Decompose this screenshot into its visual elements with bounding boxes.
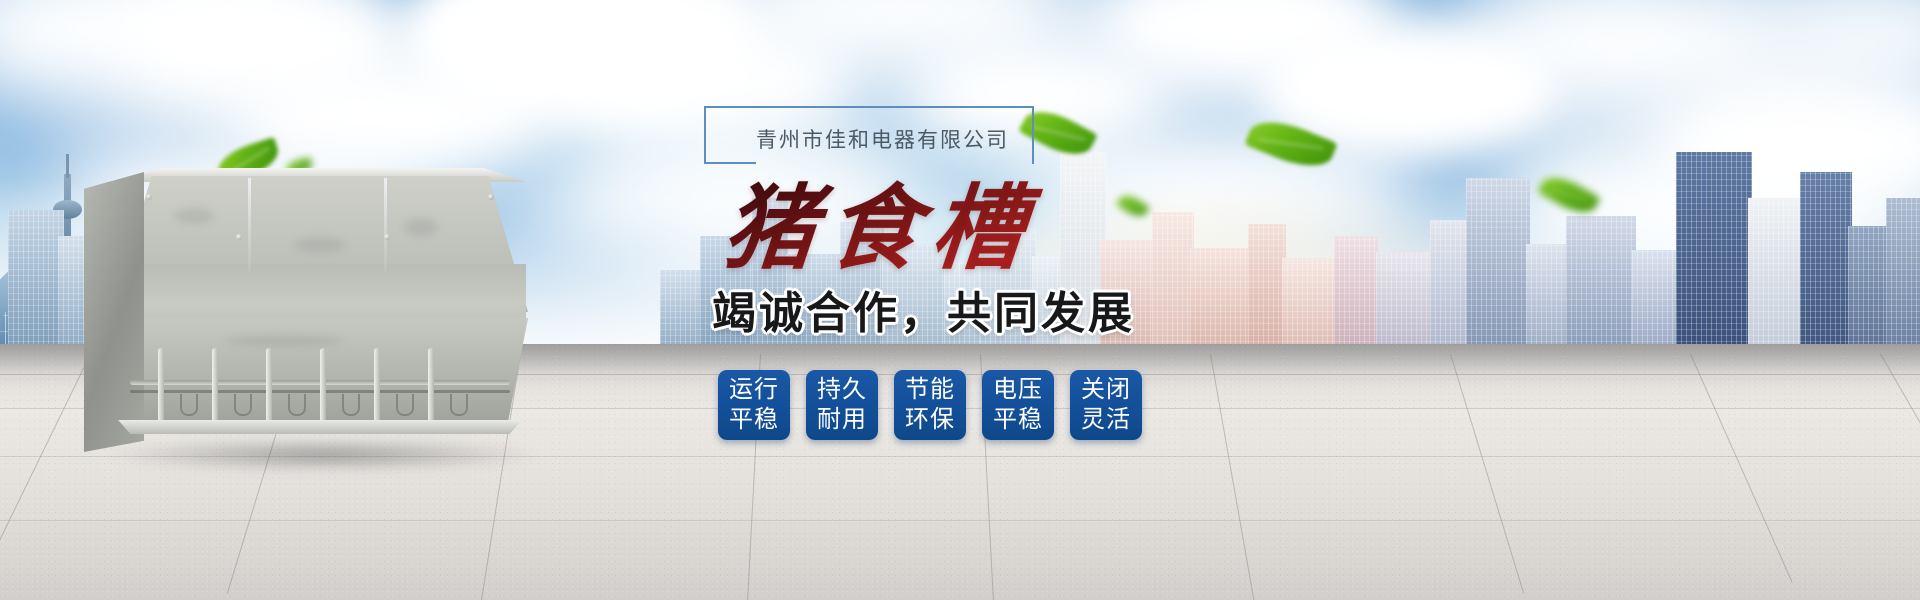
drinking-nipple: [342, 394, 360, 416]
subtitle-slogan: 竭诚合作，共同发展: [712, 288, 1072, 340]
company-name-frame-stub: [704, 162, 756, 164]
building: [660, 270, 700, 348]
badge-line-1: 电压: [993, 375, 1043, 405]
feature-badge[interactable]: 电压 平稳: [982, 370, 1054, 440]
trough-divider: [320, 348, 326, 424]
drinking-nipple: [180, 394, 198, 416]
badge-line-2: 平稳: [729, 405, 779, 435]
drinking-nipple: [396, 394, 414, 416]
badge-line-1: 关闭: [1081, 375, 1131, 405]
drinking-nipple: [234, 394, 252, 416]
trough-divider: [428, 348, 434, 424]
building: [1632, 250, 1680, 348]
badge-line-2: 平稳: [993, 405, 1043, 435]
badge-line-1: 运行: [729, 375, 779, 405]
badge-line-2: 灵活: [1081, 405, 1131, 435]
trough-divider: [266, 348, 272, 424]
trough-front-lip: [114, 420, 526, 434]
badge-line-1: 持久: [817, 375, 867, 405]
building: [1886, 198, 1920, 348]
company-name: 青州市佳和电器有限公司: [756, 126, 1026, 156]
feature-badge[interactable]: 关闭 灵活: [1070, 370, 1142, 440]
building: [1466, 178, 1530, 348]
drinking-nipple: [450, 394, 468, 416]
trough-divider: [374, 348, 380, 424]
feature-badge-list: 运行 平稳 持久 耐用 节能 环保 电压 平稳 关闭 灵活: [718, 370, 1142, 440]
building: [1152, 212, 1194, 348]
building: [1526, 244, 1570, 348]
page-title: 猪食槽: [719, 168, 1059, 288]
building: [1282, 258, 1338, 348]
feature-badge[interactable]: 持久 耐用: [806, 370, 878, 440]
building: [1430, 220, 1470, 348]
building: [1190, 248, 1252, 348]
promotional-banner: 青州市佳和电器有限公司 猪食槽 竭诚合作，共同发展 运行 平稳 持久 耐用 节能…: [0, 0, 1920, 600]
skyscraper: [1748, 198, 1806, 348]
badge-line-2: 耐用: [817, 405, 867, 435]
building: [1376, 252, 1434, 348]
trough-left-face: [84, 172, 144, 452]
badge-line-1: 节能: [905, 375, 955, 405]
feature-badge[interactable]: 节能 环保: [894, 370, 966, 440]
skyscraper: [1676, 152, 1752, 348]
trough-divider: [212, 348, 218, 424]
drinking-nipple: [288, 394, 306, 416]
product-image-feeder-trough: [84, 168, 554, 456]
building: [1248, 224, 1286, 348]
skyscraper: [1800, 172, 1852, 348]
trough-divider: [158, 348, 164, 424]
building: [1566, 216, 1636, 348]
building: [8, 210, 64, 348]
building: [1334, 236, 1378, 348]
badge-line-2: 环保: [905, 405, 955, 435]
feature-badge[interactable]: 运行 平稳: [718, 370, 790, 440]
